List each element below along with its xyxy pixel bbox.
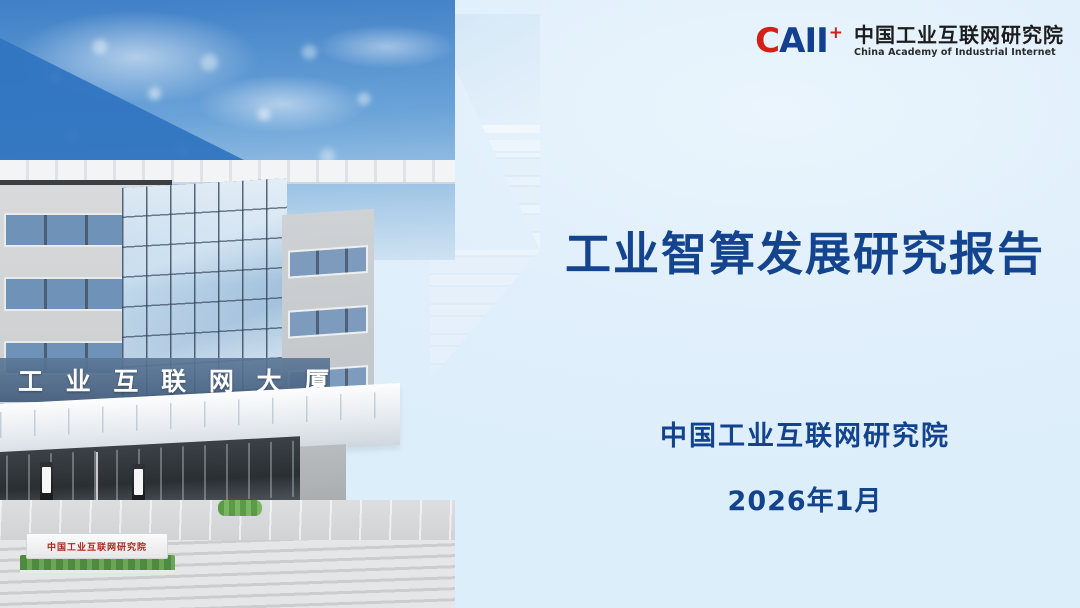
publishing-organization: 中国工业互联网研究院 (555, 414, 1055, 453)
logo-name-cn: 中国工业互联网研究院 (854, 25, 1064, 46)
cover-photo-collage: 工 业 互 联 网 大 厦 中国工业互联网研究院 (0, 0, 560, 608)
report-title: 工业智算发展研究报告 (555, 228, 1055, 281)
window-row (288, 245, 368, 279)
headquarters-building-photo: 工 业 互 联 网 大 厦 中国工业互联网研究院 (0, 0, 455, 608)
caii-logo-mark: C AII + (755, 24, 842, 58)
publication-date: 2026年1月 (555, 479, 1055, 518)
logo-letters-aii: AII (779, 24, 828, 58)
logo-plus-icon: + (829, 25, 842, 42)
logo-name-en: China Academy of Industrial Internet (854, 48, 1064, 58)
monument-stone: 中国工业互联网研究院 (26, 533, 168, 559)
logo-wordmark: 中国工业互联网研究院 China Academy of Industrial I… (854, 25, 1064, 58)
entrance-pillar (40, 462, 53, 504)
window-row (288, 305, 368, 339)
report-cover-slide: 工 业 互 联 网 大 厦 中国工业互联网研究院 C (0, 0, 1080, 608)
monument-text: 中国工业互联网研究院 (47, 540, 147, 553)
photo-chevron-clip: 工 业 互 联 网 大 厦 中国工业互联网研究院 (0, 0, 455, 608)
shrub (218, 500, 262, 516)
caii-logo: C AII + 中国工业互联网研究院 China Academy of Indu… (755, 24, 1064, 58)
logo-letter-c: C (755, 24, 779, 58)
